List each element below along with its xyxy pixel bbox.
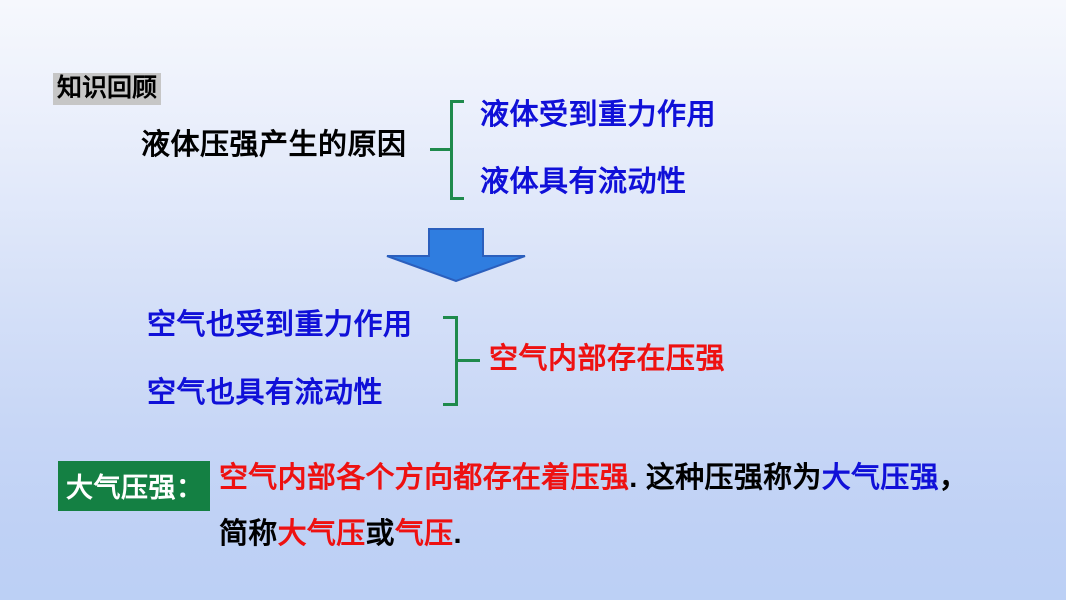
bracket-tick-bottom — [443, 403, 458, 406]
air-reason-gravity: 空气也受到重力作用 — [147, 311, 413, 340]
bracket-tick-top — [443, 316, 458, 319]
definition-line2-part1: 简称 — [219, 518, 278, 550]
bracket-tick-top — [450, 100, 464, 103]
definition-line1-part2: . 这种压强称为 — [629, 462, 822, 494]
liquid-pressure-cause-label: 液体压强产生的原因 — [141, 131, 407, 160]
definition-line1-part1: 空气内部各个方向都存在着压强 — [219, 462, 629, 494]
definition-line1-part3: 大气压强 — [822, 462, 939, 494]
definition-line1-part4: ， — [939, 462, 968, 494]
definition-line2-part4: 气压 — [395, 518, 454, 550]
air-reason-fluidity: 空气也具有流动性 — [147, 379, 383, 408]
liquid-reason-gravity: 液体受到重力作用 — [480, 101, 716, 130]
slide-canvas: 知识回顾 液体压强产生的原因 液体受到重力作用 液体具有流动性 空气也受到重力作… — [0, 0, 1066, 600]
bracket-tick-bottom — [450, 197, 464, 200]
down-arrow-icon — [386, 228, 526, 282]
atmospheric-pressure-term-chip: 大气压强： — [58, 461, 210, 511]
review-heading-chip: 知识回顾 — [53, 73, 161, 105]
liquid-reason-fluidity: 液体具有流动性 — [480, 168, 687, 197]
air-pressure-conclusion: 空气内部存在压强 — [489, 345, 725, 374]
definition-line-2: 简称大气压或气压. — [219, 520, 462, 549]
air-reasons-bracket — [440, 316, 490, 406]
definition-line-1: 空气内部各个方向都存在着压强. 这种压强称为大气压强， — [219, 464, 968, 493]
bracket-stem — [430, 148, 451, 151]
definition-line2-part5: . — [453, 518, 461, 550]
definition-line2-part2: 大气压 — [278, 518, 366, 550]
bracket-stem — [455, 359, 480, 362]
definition-line2-part3: 或 — [366, 518, 395, 550]
